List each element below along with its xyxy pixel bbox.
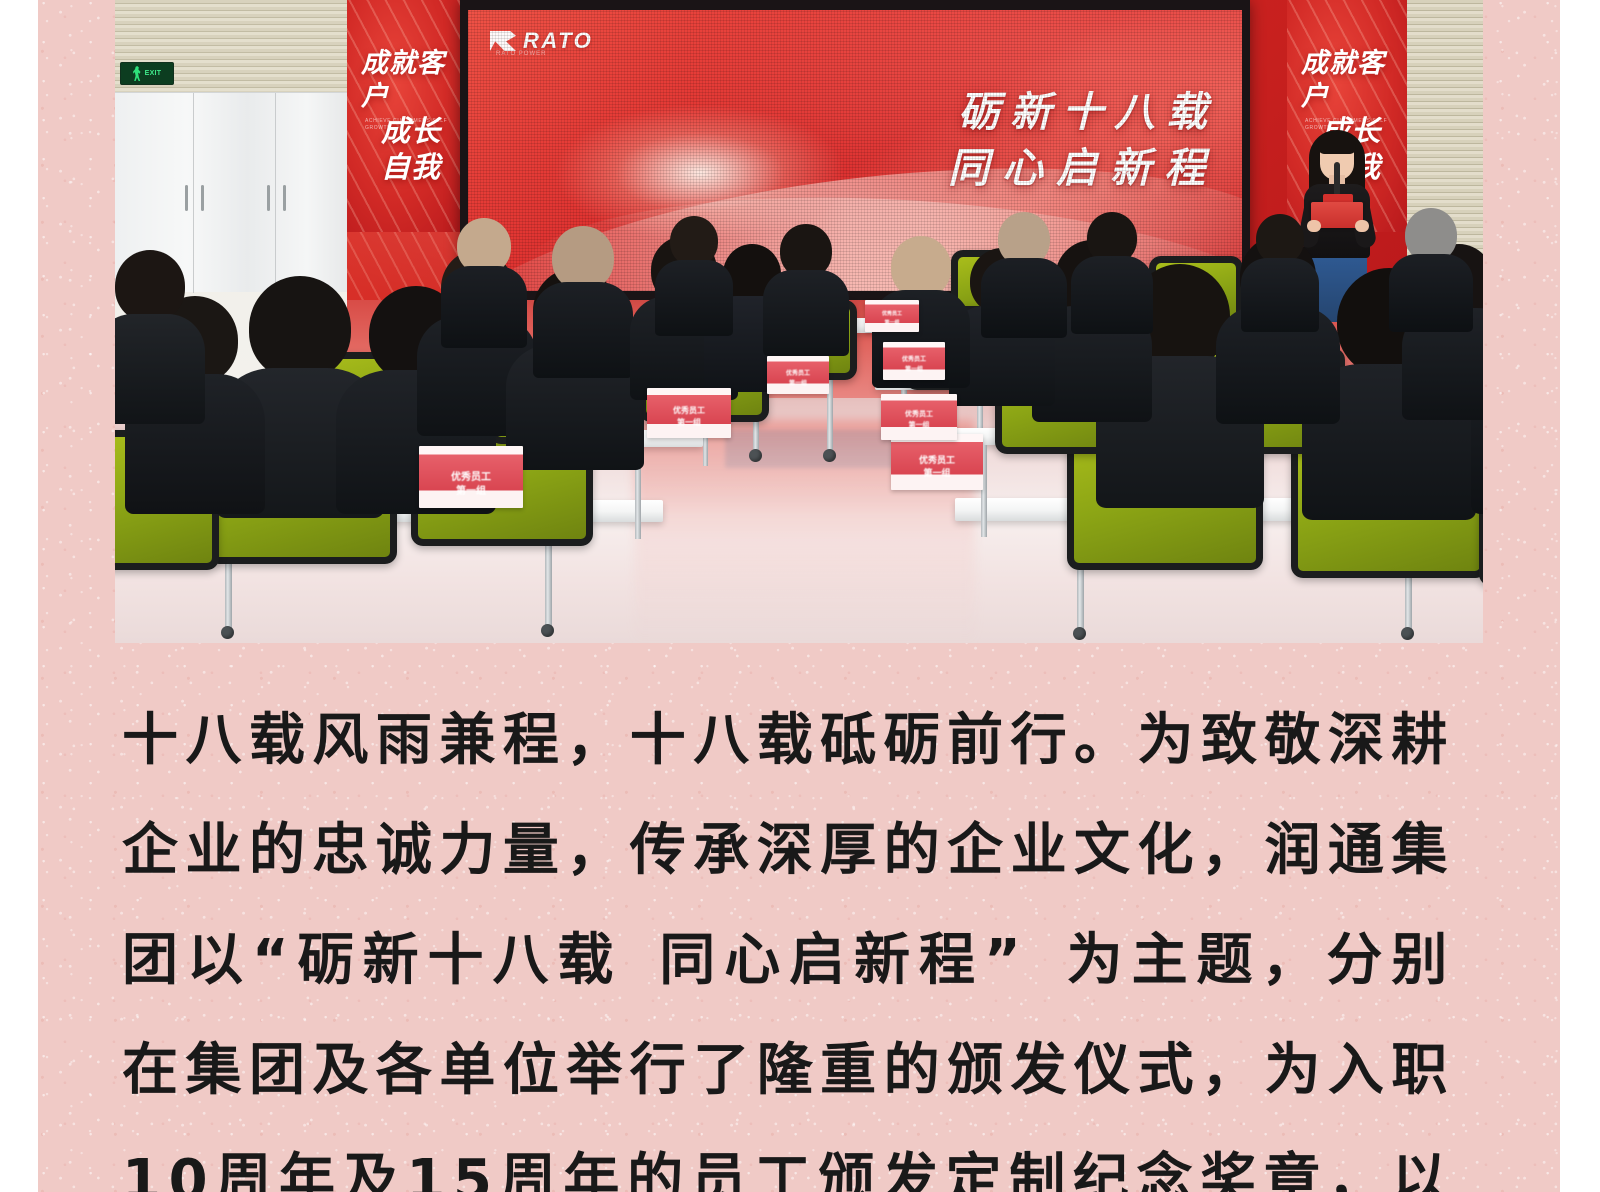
article-char: 八 <box>492 906 549 1016</box>
article-char: 八 <box>185 686 242 796</box>
article-char: 诚 <box>376 796 433 906</box>
article-char: 1 <box>122 1126 161 1192</box>
table-caster <box>1073 627 1086 640</box>
article-char: ， <box>566 686 623 796</box>
article-char: 程 <box>503 686 560 796</box>
table-name-card: 优秀员工 第一组 <box>767 356 829 394</box>
article-char: 心 <box>724 906 781 1016</box>
article-char: 厚 <box>820 796 877 906</box>
name-card-line2: 第一组 <box>767 378 829 387</box>
audience-person <box>533 226 633 366</box>
article-char: 入 <box>1328 1016 1385 1126</box>
person-body <box>763 270 849 356</box>
article-char: 业 <box>1011 796 1068 906</box>
table-name-card: 优秀员工 第一组 <box>883 342 945 380</box>
table-name-card: 优秀员工 第一组 <box>419 446 523 508</box>
article-char: 新 <box>363 906 420 1016</box>
article-char: 主 <box>1132 906 1189 1016</box>
exit-sign-label: EXIT <box>145 70 162 77</box>
article-char: 行 <box>1011 686 1068 796</box>
article-char: 5 <box>453 1126 492 1192</box>
audience-person <box>441 218 527 338</box>
article-char: 周 <box>500 1126 557 1192</box>
person-body <box>981 258 1067 338</box>
article-char: 以 <box>187 906 244 1016</box>
article-char: 十 <box>122 686 179 796</box>
conference-photo: EXIT 成就客户 成长自我 ACHIEVE CUSTOMERS SELF GR… <box>115 0 1483 643</box>
table-name-card: 优秀员工 第一组 <box>647 388 731 438</box>
article-char: ” <box>984 906 1021 1016</box>
audience-person <box>1241 214 1319 324</box>
person-head <box>552 226 614 290</box>
left-slogan-banner: 成就客户 成长自我 ACHIEVE CUSTOMERS SELF GROWTH <box>347 0 465 232</box>
cabinet-handle <box>267 185 270 211</box>
person-head <box>115 250 185 322</box>
article-char: 题 <box>1197 906 1254 1016</box>
article-char: 文 <box>1074 796 1131 906</box>
article-char: 仪 <box>1074 1016 1131 1126</box>
article-char: “ <box>252 906 289 1016</box>
article-char: 载 <box>757 686 814 796</box>
article-char: 行 <box>630 1016 687 1126</box>
running-man-icon <box>133 66 143 81</box>
audience-person <box>655 216 733 326</box>
article-char: 的 <box>627 1126 684 1192</box>
name-card-line1: 优秀员工 <box>647 405 731 416</box>
article-char: 的 <box>884 796 941 906</box>
article-char <box>1030 906 1059 1016</box>
person-head <box>891 236 951 298</box>
article-char: 量 <box>503 796 560 906</box>
article-char: 纪 <box>1073 1126 1130 1192</box>
article-char: 工 <box>754 1126 811 1192</box>
name-card-line1: 优秀员工 <box>883 354 945 363</box>
article-char: 在 <box>122 1016 179 1126</box>
audience-person <box>1389 208 1473 324</box>
name-card-line2: 第一组 <box>647 417 731 428</box>
left-banner-sub: ACHIEVE CUSTOMERS SELF GROWTH <box>365 118 465 132</box>
article-char: 同 <box>659 906 716 1016</box>
person-body <box>1389 254 1473 332</box>
rato-mark-icon <box>490 31 516 51</box>
article-char: 忠 <box>312 796 369 906</box>
article-char: 敬 <box>1264 686 1321 796</box>
name-card-line1: 优秀员工 <box>419 468 523 483</box>
article-char: 团 <box>249 1016 306 1126</box>
left-banner-line1: 成就客户 <box>347 47 465 113</box>
article-char: 单 <box>439 1016 496 1126</box>
host-hair-front <box>1318 132 1356 154</box>
cabinet-handle <box>283 185 286 211</box>
article-line-3: 团以“砺新十八载 同心启新程” 为主题，分别 <box>122 906 1448 1016</box>
article-char: 润 <box>1264 796 1321 906</box>
article-char: 周 <box>215 1126 272 1192</box>
article-char: 重 <box>820 1016 877 1126</box>
article-char: 以 <box>1391 1126 1448 1192</box>
article-char: 砺 <box>298 906 355 1016</box>
table-caster <box>1401 627 1414 640</box>
article-char: 雨 <box>376 686 433 796</box>
article-char: 及 <box>312 1016 369 1126</box>
table-name-card: 优秀员工 第一组 <box>881 394 957 440</box>
article-char: 承 <box>693 796 750 906</box>
article-char: 别 <box>1391 906 1448 1016</box>
article-char: 各 <box>376 1016 433 1126</box>
article-line-1: 十八载风雨兼程，十八载砥砺前行。为致敬深耕 <box>122 686 1448 796</box>
table-caster <box>749 449 762 462</box>
table-name-card: 优秀员工 第一组 <box>891 434 983 490</box>
name-card-line2: 第一组 <box>865 319 919 326</box>
article-char: 奖 <box>1200 1126 1257 1192</box>
name-card-line1: 优秀员工 <box>865 310 919 317</box>
article-char: 耕 <box>1391 686 1448 796</box>
article-char: 职 <box>1391 1016 1448 1126</box>
article-char: 砺 <box>884 686 941 796</box>
name-card-line2: 第一组 <box>891 466 983 479</box>
article-char: 新 <box>854 906 911 1016</box>
article-char: 位 <box>503 1016 560 1126</box>
person-body <box>1241 258 1319 332</box>
article-char: 传 <box>630 796 687 906</box>
article-char: ， <box>566 796 623 906</box>
audience-person <box>115 250 205 410</box>
rato-logo-subtext: RATO POWER <box>496 50 546 58</box>
article-char: ， <box>1201 796 1258 906</box>
article-char: 颁 <box>818 1126 875 1192</box>
article-char: 十 <box>428 906 485 1016</box>
article-char: 举 <box>566 1016 623 1126</box>
article-char: 载 <box>557 906 614 1016</box>
audience-person <box>981 212 1067 332</box>
article-char: 式 <box>1138 1016 1195 1126</box>
name-card-line2: 第一组 <box>883 364 945 373</box>
name-card-line2: 第一组 <box>419 482 523 497</box>
article-char: 隆 <box>757 1016 814 1126</box>
article-char: 。 <box>1074 686 1131 796</box>
article-char: 集 <box>185 1016 242 1126</box>
article-char: ， <box>1328 1126 1385 1192</box>
article-char: 念 <box>1137 1126 1194 1192</box>
article-char: 前 <box>947 686 1004 796</box>
article-char: 颁 <box>947 1016 1004 1126</box>
microphone-icon <box>1334 162 1340 196</box>
article-char: 十 <box>630 686 687 796</box>
cabinet-handle <box>185 185 188 211</box>
article-char: 致 <box>1201 686 1258 796</box>
article-char: 为 <box>1067 906 1124 1016</box>
article-char: 发 <box>1011 1016 1068 1126</box>
article-char: 0 <box>169 1126 208 1192</box>
article-char: ， <box>1201 1016 1258 1126</box>
article-char: 风 <box>312 686 369 796</box>
name-card-line1: 优秀员工 <box>767 368 829 377</box>
audience-person <box>763 224 849 346</box>
article-char: 团 <box>122 906 179 1016</box>
host-right-hand <box>1355 220 1369 232</box>
article-line-2: 企业的忠诚力量，传承深厚的企业文化，润通集 <box>122 796 1448 906</box>
left-banner-text: 成就客户 成长自我 <box>347 0 465 232</box>
article-char: 定 <box>946 1126 1003 1192</box>
article-char: 了 <box>693 1016 750 1126</box>
screen-slogan-line1: 砺新十八载 <box>948 84 1218 140</box>
article-char: 1 <box>406 1126 445 1192</box>
article-char: 深 <box>757 796 814 906</box>
article-char: 章 <box>1264 1126 1321 1192</box>
article-line-5: 10周年及15周年的员工颁发定制纪念奖章，以 <box>122 1126 1448 1192</box>
audience-person <box>1071 212 1153 328</box>
article-char: 为 <box>1138 686 1195 796</box>
article-char: 年 <box>279 1126 336 1192</box>
exit-sign: EXIT <box>120 62 174 85</box>
article-char: 发 <box>882 1126 939 1192</box>
person-body <box>115 314 205 424</box>
person-head <box>670 216 718 266</box>
article-char: 深 <box>1328 686 1385 796</box>
article-char: 载 <box>249 686 306 796</box>
article-char: 化 <box>1138 796 1195 906</box>
name-card-line1: 优秀员工 <box>881 409 957 419</box>
name-card-line1: 优秀员工 <box>891 453 983 466</box>
table-caster <box>541 624 554 637</box>
article-char: 兼 <box>439 686 496 796</box>
article-char <box>622 906 651 1016</box>
article-char: 企 <box>122 796 179 906</box>
article-char: 年 <box>563 1126 620 1192</box>
screen-slogan-line2: 同心启新程 <box>948 140 1218 196</box>
article-char: 员 <box>691 1126 748 1192</box>
article-page: EXIT 成就客户 成长自我 ACHIEVE CUSTOMERS SELF GR… <box>0 0 1600 1192</box>
article-char: 制 <box>1009 1126 1066 1192</box>
article-char: 分 <box>1326 906 1383 1016</box>
right-banner-line1: 成就客户 <box>1287 47 1407 113</box>
article-char: 为 <box>1264 1016 1321 1126</box>
name-card-line2: 第一组 <box>881 420 957 430</box>
article-char: 的 <box>884 1016 941 1126</box>
table-name-card: 优秀员工 第一组 <box>865 300 919 332</box>
person-body <box>1071 256 1153 334</box>
article-char: 企 <box>947 796 1004 906</box>
article-char: 力 <box>439 796 496 906</box>
article-body: 十八载风雨兼程，十八载砥砺前行。为致敬深耕 企业的忠诚力量，传承深厚的企业文化，… <box>122 686 1448 1192</box>
article-char: 八 <box>693 686 750 796</box>
article-char: 启 <box>789 906 846 1016</box>
article-char: 业 <box>185 796 242 906</box>
person-head <box>1256 214 1304 264</box>
article-char: ， <box>1261 906 1318 1016</box>
article-char: 通 <box>1328 796 1385 906</box>
person-body <box>655 260 733 336</box>
screen-slogan: 砺新十八载 同心启新程 <box>948 84 1218 196</box>
article-char: 集 <box>1391 796 1448 906</box>
article-char: 砥 <box>820 686 877 796</box>
table-caster <box>221 626 234 639</box>
cabinet-handle <box>201 185 204 211</box>
article-char: 的 <box>249 796 306 906</box>
article-line-4: 在集团及各单位举行了隆重的颁发仪式，为入职 <box>122 1016 1448 1126</box>
article-char: 程 <box>919 906 976 1016</box>
table-caster <box>823 449 836 462</box>
article-char: 及 <box>343 1126 400 1192</box>
person-body <box>533 282 633 378</box>
person-body <box>441 266 527 348</box>
